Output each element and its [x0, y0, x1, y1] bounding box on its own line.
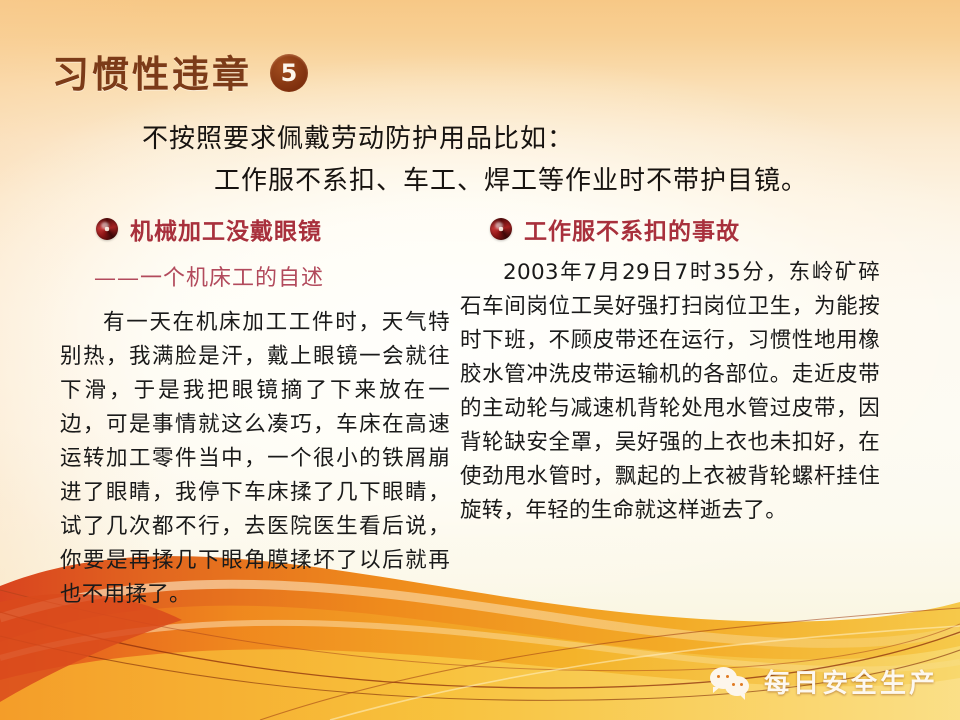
swirl-bullet-icon [96, 218, 118, 240]
right-column: 工作服不系扣的事故 2003年7月29日7时35分，东岭矿碎石车间岗位工吴好强打… [460, 212, 880, 528]
right-section-title: 工作服不系扣的事故 [524, 212, 740, 246]
left-column: 机械加工没戴眼镜 ——一个机床工的自述 有一天在机床加工工件时，天气特别热，我满… [60, 212, 450, 612]
slide-header: 习惯性违章 5 [52, 44, 308, 98]
slide-canvas: 习惯性违章 5 不按照要求佩戴劳动防护用品比如： 工作服不系扣、车工、焊工等作业… [0, 0, 960, 720]
left-body-paragraph: 有一天在机床加工工件时，天气特别热，我满脸是汗，戴上眼镜一会就往下滑，于是我把眼… [60, 306, 450, 612]
wechat-icon [710, 667, 752, 697]
page-title: 习惯性违章 [52, 44, 252, 98]
watermark: 每日安全生产 [702, 659, 946, 704]
subtitle-block: 不按照要求佩戴劳动防护用品比如： 工作服不系扣、车工、焊工等作业时不带护目镜。 [142, 118, 932, 202]
swirl-bullet-icon [490, 218, 512, 240]
subtitle-line-2: 工作服不系扣、车工、焊工等作业时不带护目镜。 [142, 160, 932, 202]
left-section-header: 机械加工没戴眼镜 [60, 212, 450, 246]
left-section-subtitle: ——一个机床工的自述 [60, 260, 450, 292]
subtitle-line-1: 不按照要求佩戴劳动防护用品比如： [142, 124, 574, 154]
section-number-badge: 5 [270, 54, 308, 92]
watermark-label: 每日安全生产 [764, 663, 938, 700]
left-section-title: 机械加工没戴眼镜 [130, 212, 322, 246]
right-section-header: 工作服不系扣的事故 [460, 212, 880, 246]
right-body-paragraph: 2003年7月29日7时35分，东岭矿碎石车间岗位工吴好强打扫岗位卫生，为能按时… [460, 256, 880, 528]
